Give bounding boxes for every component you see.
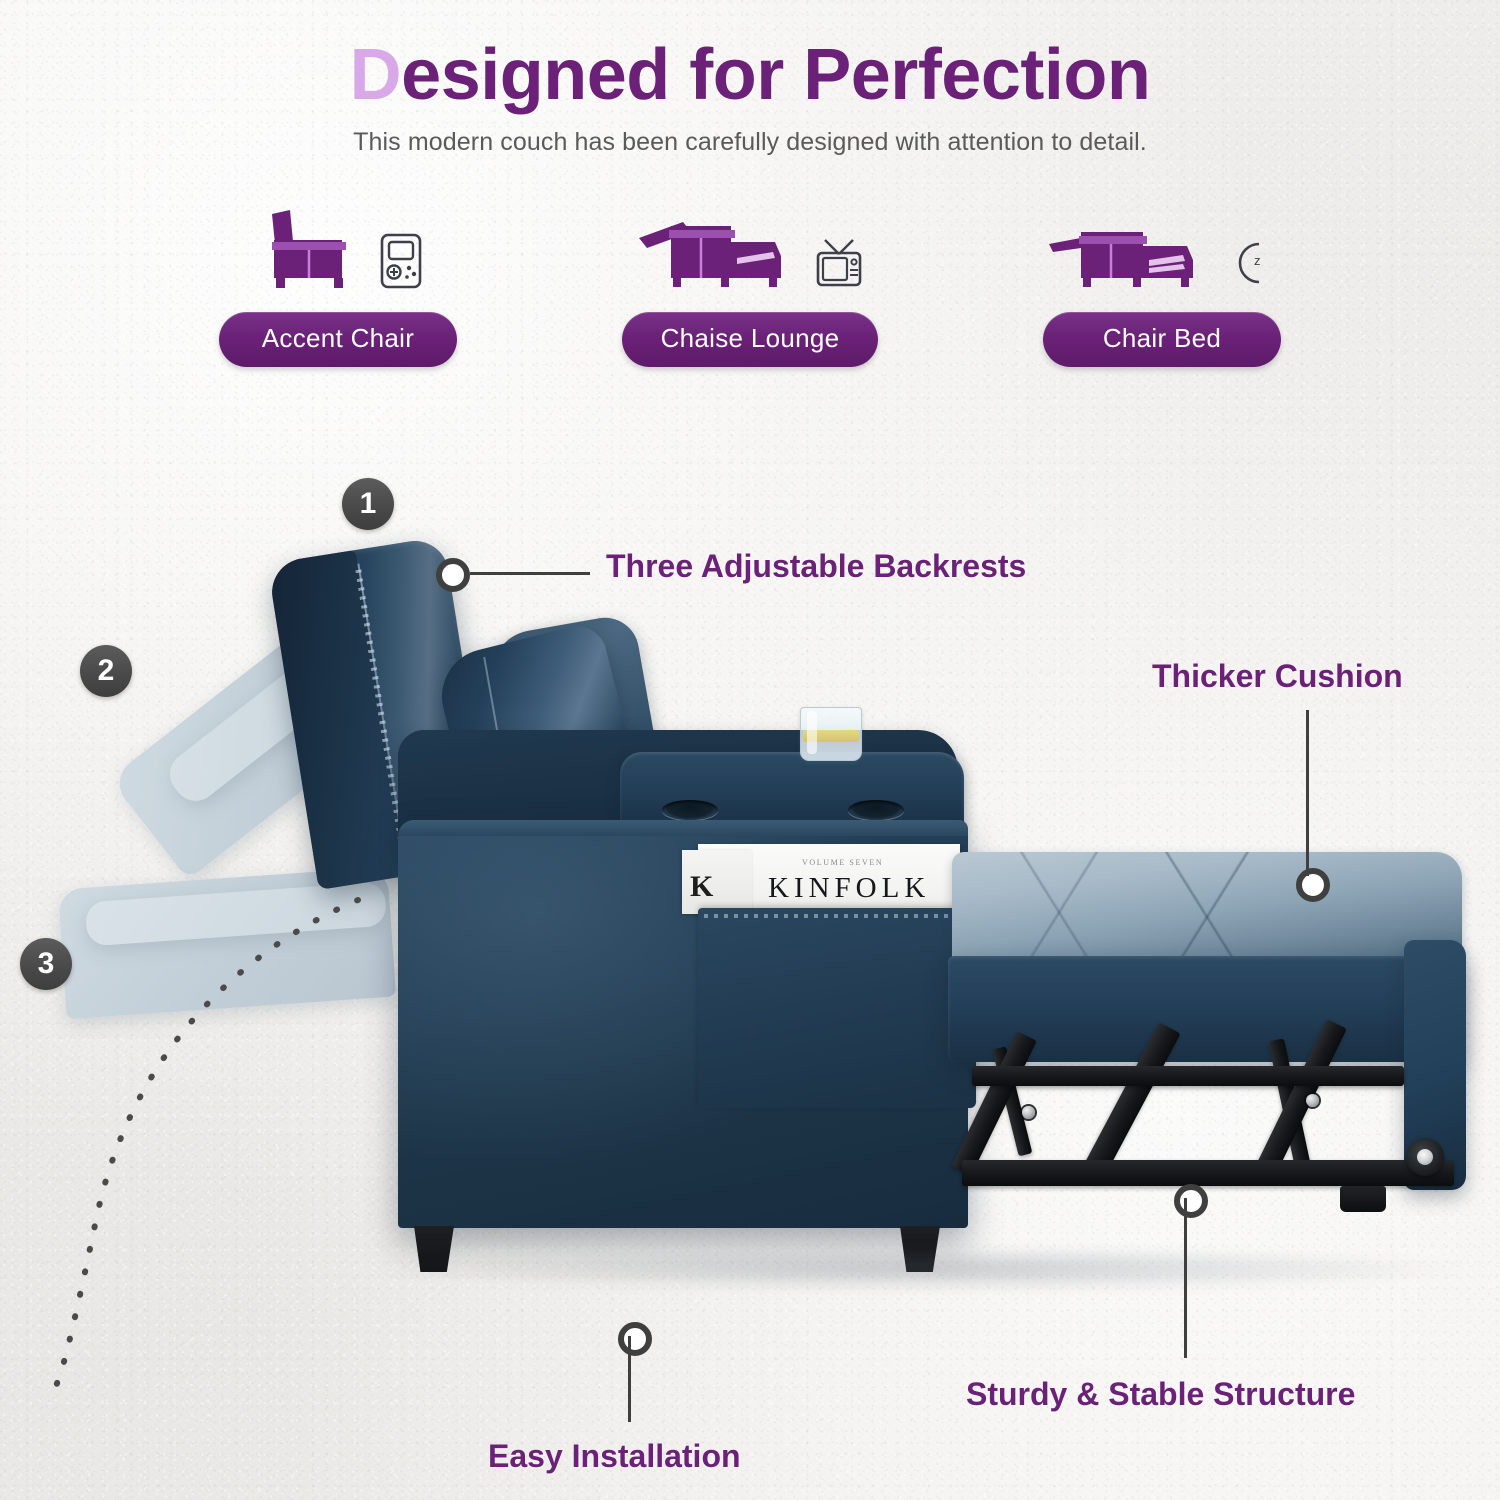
ottoman-cushion-top	[952, 852, 1462, 964]
mode-accent-chair[interactable]: Accent Chair	[188, 196, 488, 367]
callout-label-sturdy: Sturdy & Stable Structure	[966, 1376, 1355, 1413]
cup-holder-front	[662, 800, 718, 820]
mode-artwork	[635, 196, 865, 292]
reclined-chaise-icon	[635, 206, 805, 292]
callout-label-cushion: Thicker Cushion	[1152, 658, 1403, 695]
magazine: K VOLUME SEVEN KINFOLK	[698, 844, 960, 916]
header: Designed for Perfection This modern couc…	[0, 0, 1500, 157]
drinking-glass	[800, 707, 862, 761]
svg-text:z: z	[1254, 253, 1261, 268]
mode-artwork	[250, 196, 426, 292]
side-storage-pocket	[698, 908, 976, 1108]
mode-chaise-lounge[interactable]: Chaise Lounge	[600, 196, 900, 367]
mode-chair-bed[interactable]: z Chair Bed	[1012, 196, 1312, 367]
callout-leader-sturdy	[1184, 1198, 1187, 1358]
caster-wheel	[1406, 1138, 1444, 1176]
callout-label-backrests: Three Adjustable Backrests	[606, 548, 1026, 585]
callout-leader-backrests	[470, 572, 590, 575]
callout-marker-installation	[618, 1322, 652, 1356]
diamond-quilting	[952, 852, 1462, 964]
page-title-highlight: D	[350, 35, 402, 115]
recline-badge-3: 3	[20, 938, 72, 990]
mode-label-chair-bed[interactable]: Chair Bed	[1043, 312, 1281, 367]
recline-badge-2: 2	[80, 645, 132, 697]
mode-label-chaise-lounge[interactable]: Chaise Lounge	[622, 312, 878, 367]
infographic-page: Designed for Perfection This modern couc…	[0, 0, 1500, 1500]
callout-leader-installation	[628, 1336, 631, 1422]
game-console-icon	[378, 230, 426, 292]
glass-highlight	[807, 711, 817, 754]
callout-marker-cushion	[1296, 868, 1330, 902]
frame-bolt	[1306, 1094, 1319, 1107]
upright-recliner-icon	[250, 206, 370, 292]
magazine-kicker: VOLUME SEVEN	[802, 858, 883, 867]
callout-leader-cushion	[1306, 710, 1309, 876]
magazine-mark: K	[690, 870, 713, 904]
chair-body-top-rail	[398, 820, 968, 836]
pocket-stitching	[704, 914, 970, 918]
page-title-rest: esigned for Perfection	[401, 35, 1150, 115]
magazine-title: KINFOLK	[768, 872, 930, 905]
frame-foot-pad	[1340, 1186, 1386, 1212]
page-title: Designed for Perfection	[0, 38, 1500, 114]
television-icon	[813, 236, 865, 292]
frame-bolt	[1022, 1106, 1035, 1119]
mode-label-accent-chair[interactable]: Accent Chair	[219, 312, 457, 367]
mode-list: Accent Chair	[0, 196, 1500, 367]
callout-marker-sturdy	[1174, 1184, 1208, 1218]
page-subtitle: This modern couch has been carefully des…	[0, 128, 1500, 157]
frame-rail-bottom	[962, 1160, 1454, 1186]
cup-holder-rear	[848, 800, 904, 820]
recline-badge-1: 1	[342, 478, 394, 530]
chair-body: K VOLUME SEVEN KINFOLK	[398, 820, 968, 1228]
contact-shadow	[360, 1246, 1480, 1292]
mode-artwork: z	[1047, 196, 1277, 292]
moon-sleep-icon: z	[1225, 236, 1277, 292]
flat-chair-bed-icon	[1047, 206, 1217, 292]
frame-rail-middle	[972, 1066, 1404, 1086]
callout-label-installation: Easy Installation	[488, 1438, 741, 1475]
callout-marker-backrests	[436, 558, 470, 592]
